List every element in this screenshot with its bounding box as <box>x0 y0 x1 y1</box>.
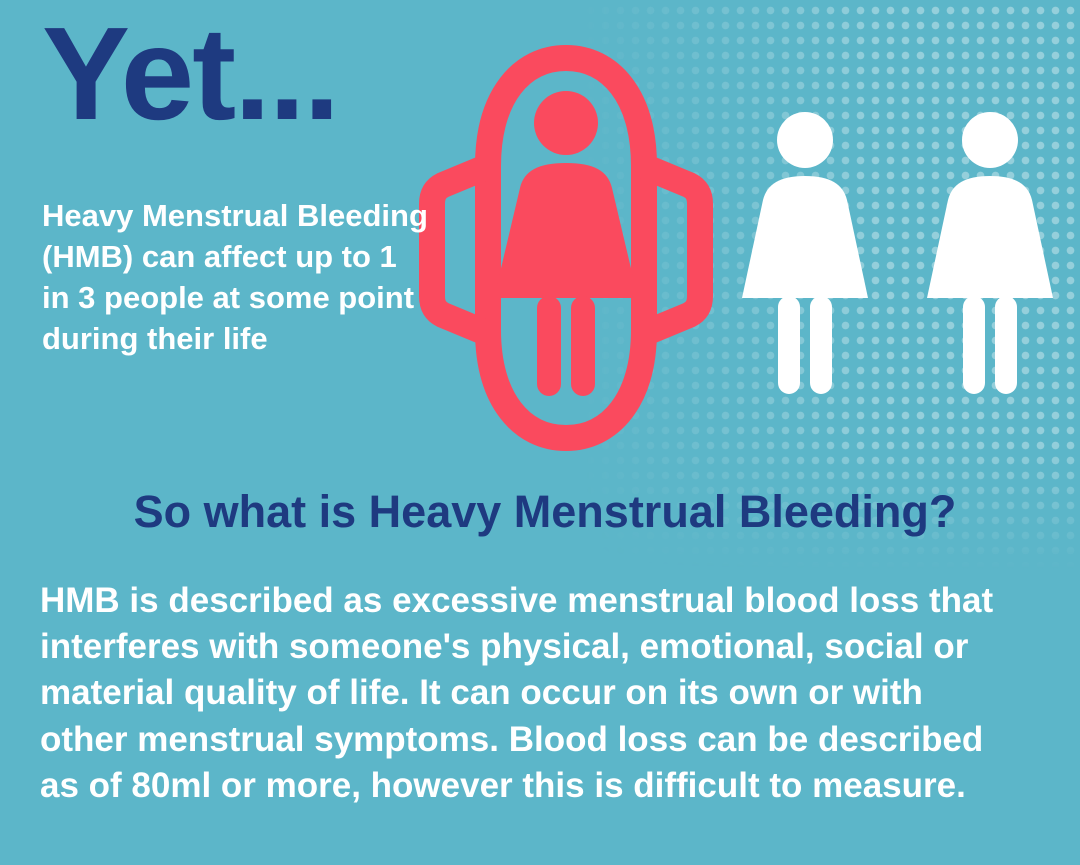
body-line: as of 80ml or more, however this is diff… <box>40 763 1045 809</box>
sanitary-pad-with-wings-icon <box>418 38 714 458</box>
body-line: other menstrual symptoms. Blood loss can… <box>40 717 1045 763</box>
female-figure-pink-icon <box>494 91 638 396</box>
body-line: interferes with someone's physical, emot… <box>40 624 1045 670</box>
headline: Yet... <box>42 8 338 140</box>
infographic-poster: Yet... Heavy Menstrual Bleeding (HMB) ca… <box>0 0 1080 865</box>
section-heading: So what is Heavy Menstrual Bleeding? <box>30 486 1060 538</box>
body-line: material quality of life. It can occur o… <box>40 670 1045 716</box>
female-figure-white-icon <box>925 100 1055 400</box>
body-paragraph: HMB is described as excessive menstrual … <box>40 578 1045 809</box>
female-figure-white-icon <box>740 100 870 400</box>
body-line: HMB is described as excessive menstrual … <box>40 578 1045 624</box>
intro-paragraph: Heavy Menstrual Bleeding (HMB) can affec… <box>42 196 432 360</box>
